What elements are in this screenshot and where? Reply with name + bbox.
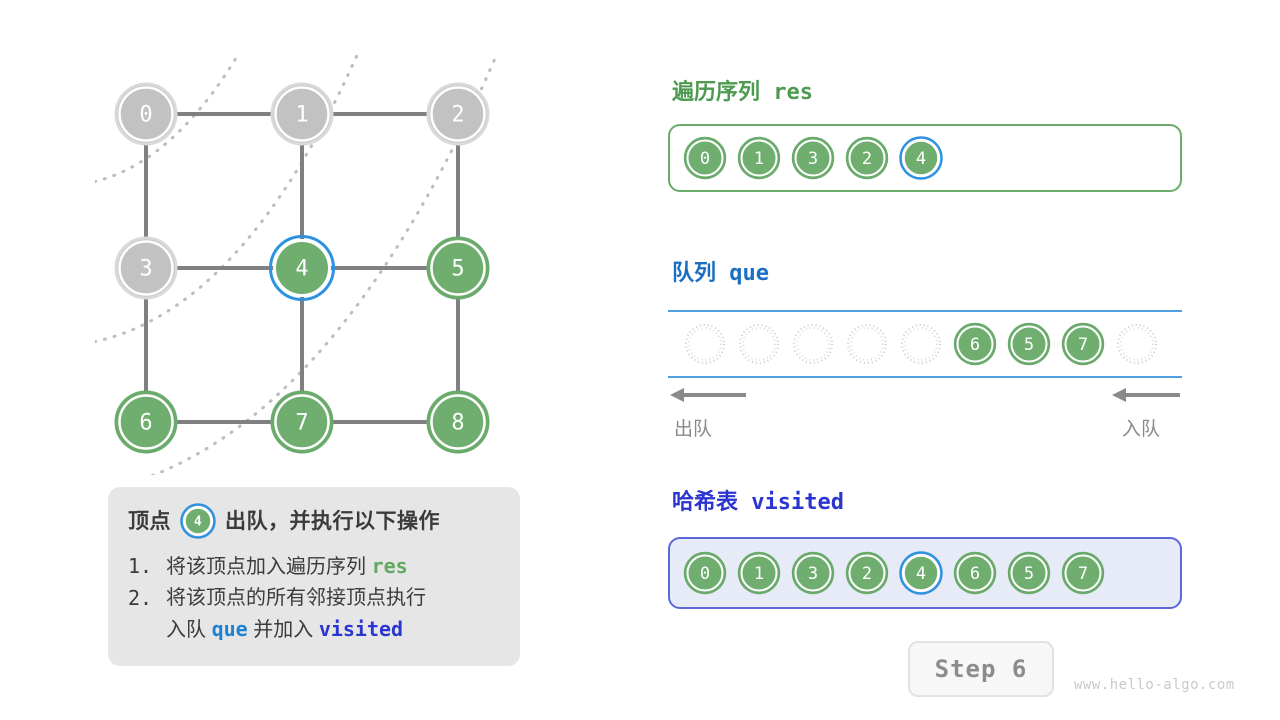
visited-slot-label: 6 (970, 564, 980, 584)
caption-step-1-part-1: res (372, 554, 408, 578)
queue-title-code: que (729, 261, 769, 286)
graph-vertex-5[interactable]: 5 (428, 238, 488, 298)
res-slot[interactable]: 4 (898, 135, 944, 181)
graph-vertex-1-label: 1 (295, 103, 308, 128)
res-slot[interactable]: 1 (736, 135, 782, 181)
visited-slot-label: 2 (862, 564, 872, 584)
visited-slot[interactable]: 2 (844, 550, 890, 596)
visited-title-code: visited (751, 490, 844, 515)
queue-slot[interactable] (736, 321, 782, 367)
graph-vertex-4[interactable]: 4 (271, 237, 334, 300)
caption-step-2b-part-2: 并加入 (248, 619, 319, 641)
res-title-cn: 遍历序列 (672, 79, 760, 104)
graph-vertex-0[interactable]: 0 (116, 84, 176, 144)
graph-vertex-3[interactable]: 3 (116, 238, 176, 298)
queue-slot[interactable] (1114, 321, 1160, 367)
graph-vertex-7[interactable]: 7 (272, 392, 332, 452)
visited-slot[interactable]: 3 (790, 550, 836, 596)
visited-slot-row: 01324657 (682, 537, 1114, 609)
visited-slot-label: 0 (700, 564, 710, 584)
queue-slot[interactable] (898, 321, 944, 367)
visited-slot[interactable]: 1 (736, 550, 782, 596)
visited-slot-label: 7 (1078, 564, 1088, 584)
caption-step-list: 1. 将该顶点加入遍历序列 res 2. 将该顶点的所有邻接顶点执行 入队 qu… (128, 551, 500, 646)
dequeue-arrow-icon (670, 386, 748, 409)
visited-title-cn: 哈希表 (672, 489, 738, 514)
queue-slot-label: 5 (1024, 335, 1034, 355)
caption-step-2b-part-3: visited (319, 617, 403, 641)
graph-vertex-3-label: 3 (139, 257, 152, 282)
res-slot-label: 3 (808, 149, 818, 169)
graph-vertex-6[interactable]: 6 (116, 392, 176, 452)
visited-slot-label: 3 (808, 564, 818, 584)
res-slot[interactable]: 2 (844, 135, 890, 181)
enqueue-arrow-icon (1112, 386, 1182, 409)
visited-slot-label: 4 (916, 564, 926, 584)
queue-slot[interactable] (844, 321, 890, 367)
caption-box: 顶点 4 出队，并执行以下操作 1. 将该顶点加入遍历序列 res 2. 将该顶… (108, 487, 520, 666)
caption-step-1-text: 将该顶点加入遍历序列 res (166, 551, 408, 583)
queue-slot-label: 7 (1078, 335, 1088, 355)
res-slot-row: 01324 (682, 124, 952, 192)
graph-vertex-6-label: 6 (139, 411, 152, 436)
enqueue-label: 入队 (1122, 414, 1160, 441)
res-title-code: res (773, 80, 813, 105)
graph-vertex-8-label: 8 (451, 411, 464, 436)
caption-head-suffix: 出队，并执行以下操作 (225, 511, 440, 532)
queue-slot-row: 657 (682, 310, 1168, 378)
queue-slot[interactable] (790, 321, 836, 367)
visited-title: 哈希表 visited (672, 484, 844, 516)
caption-step-2b-index (128, 614, 166, 646)
graph-vertex-0-label: 0 (139, 103, 152, 128)
step-badge: Step 6 (908, 641, 1054, 697)
graph-vertex-1[interactable]: 1 (272, 84, 332, 144)
graph-vertex-8[interactable]: 8 (428, 392, 488, 452)
graph-vertex-2-label: 2 (451, 103, 464, 128)
visited-slot[interactable]: 6 (952, 550, 998, 596)
caption-head-prefix: 顶点 (128, 511, 171, 532)
graph-vertex-4-label: 4 (295, 257, 308, 282)
queue-slot-label: 6 (970, 335, 980, 355)
caption-step-2-text: 将该顶点的所有邻接顶点执行 (166, 583, 426, 614)
queue-title-cn: 队列 (672, 260, 716, 285)
caption-step-2b-part-0: 入队 (166, 619, 212, 641)
watermark: www.hello-algo.com (1074, 677, 1235, 693)
visited-slot-label: 1 (754, 564, 764, 584)
caption-node-chip-label: 4 (194, 515, 202, 530)
res-slot[interactable]: 0 (682, 135, 728, 181)
res-slot-label: 1 (754, 149, 764, 169)
visited-slot[interactable]: 0 (682, 550, 728, 596)
caption-step-2: 2. 将该顶点的所有邻接顶点执行 (128, 583, 500, 614)
visited-slot[interactable]: 5 (1006, 550, 1052, 596)
queue-title: 队列 que (672, 255, 769, 287)
res-slot[interactable]: 3 (790, 135, 836, 181)
graph-vertex-7-label: 7 (295, 411, 308, 436)
visited-slot[interactable]: 4 (898, 550, 944, 596)
queue-slot[interactable]: 6 (952, 321, 998, 367)
caption-step-1-part-0: 将该顶点加入遍历序列 (166, 556, 372, 578)
graph-canvas: 0 1 2 3 4 (95, 55, 515, 475)
res-title: 遍历序列 res (672, 74, 813, 106)
graph-vertex-2[interactable]: 2 (428, 84, 488, 144)
dequeue-label: 出队 (674, 414, 712, 441)
visited-slot-label: 5 (1024, 564, 1034, 584)
caption-step-2-index: 2. (128, 583, 166, 614)
caption-step-1-index: 1. (128, 551, 166, 583)
queue-slot[interactable]: 7 (1060, 321, 1106, 367)
caption-step-1: 1. 将该顶点加入遍历序列 res (128, 551, 500, 583)
queue-slot[interactable]: 5 (1006, 321, 1052, 367)
visited-slot[interactable]: 7 (1060, 550, 1106, 596)
graph-vertex-5-label: 5 (451, 257, 464, 282)
res-slot-label: 2 (862, 149, 872, 169)
right-panel: 遍历序列 res 01324 队列 que 657 出队 入队 哈希表 visi… (660, 0, 1280, 720)
caption-headline: 顶点 4 出队，并执行以下操作 (128, 503, 500, 539)
caption-step-2b-text: 入队 que 并加入 visited (166, 614, 403, 646)
caption-step-2b-part-1: que (212, 617, 248, 641)
caption-node-chip: 4 (180, 503, 216, 539)
res-slot-label: 0 (700, 149, 710, 169)
queue-slot[interactable] (682, 321, 728, 367)
res-slot-label: 4 (916, 149, 926, 169)
caption-step-2-continued: 入队 que 并加入 visited (128, 614, 500, 646)
